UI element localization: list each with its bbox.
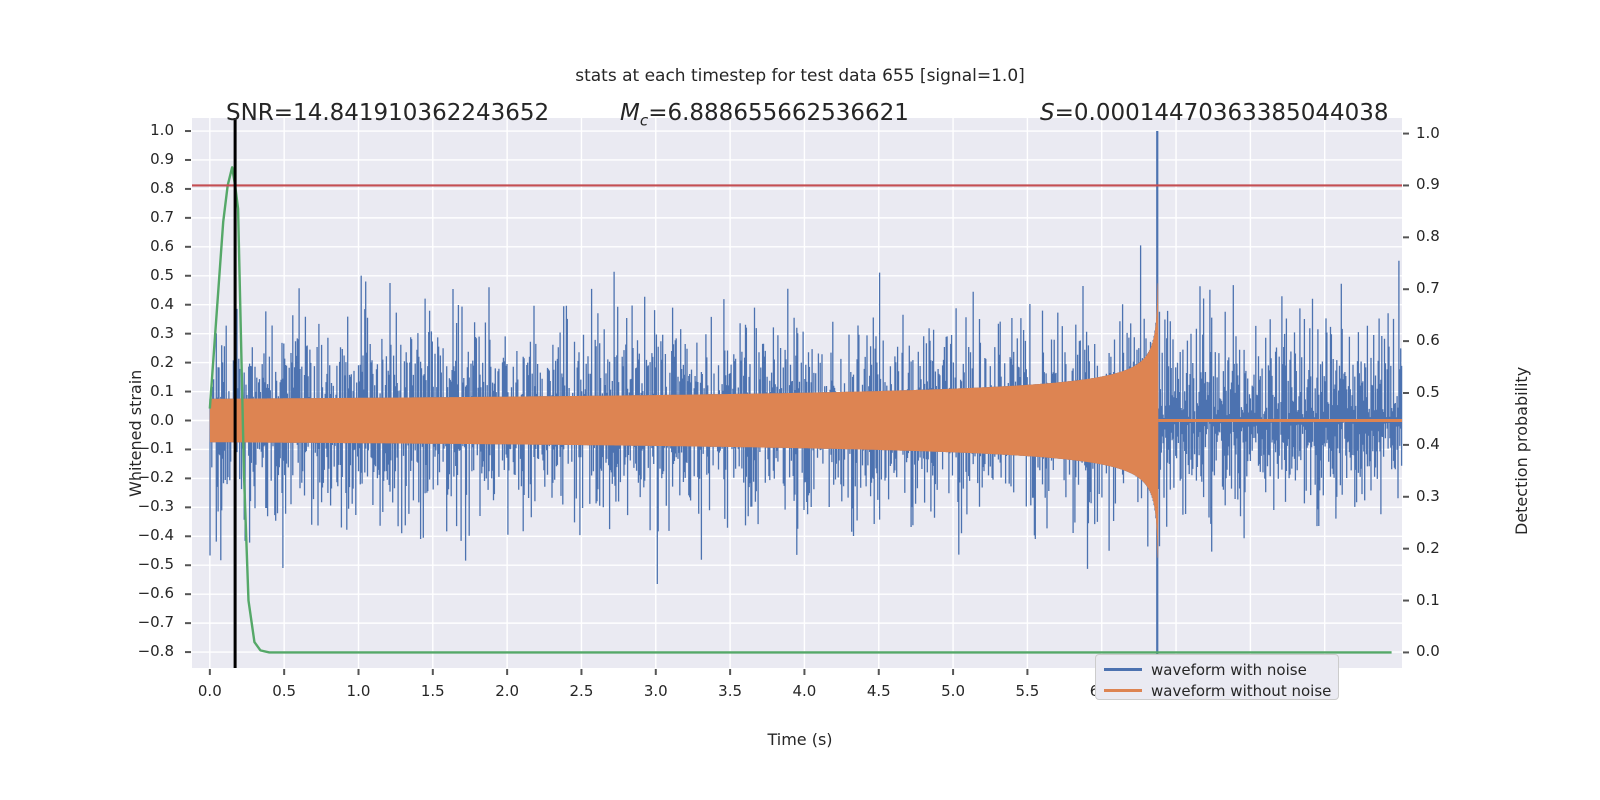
legend-label: waveform without noise xyxy=(1151,682,1331,700)
y-tick-label-left: −0.4 xyxy=(98,526,174,544)
legend: waveform with noisewaveform without nois… xyxy=(1095,654,1339,700)
y-tick-label-right: 0.0 xyxy=(1416,642,1476,660)
chart-title: stats at each timestep for test data 655… xyxy=(0,66,1600,86)
annotation-snr: SNR=14.841910362243652 xyxy=(226,100,549,126)
legend-label: waveform with noise xyxy=(1151,661,1307,679)
y-tick-label-left: 0.3 xyxy=(98,324,174,342)
x-tick-label: 0.0 xyxy=(180,682,240,700)
x-tick-label: 4.5 xyxy=(849,682,909,700)
x-tick-label: 2.0 xyxy=(477,682,537,700)
y-tick-label-left: −0.8 xyxy=(98,642,174,660)
x-tick-label: 3.0 xyxy=(626,682,686,700)
y-tick-label-left: 0.2 xyxy=(98,353,174,371)
annotation-mc-text: =6.888655662536621 xyxy=(648,100,909,126)
y-tick-label-left: −0.3 xyxy=(98,497,174,515)
y-tick-label-left: 0.9 xyxy=(98,150,174,168)
legend-swatch-icon xyxy=(1104,668,1142,671)
y-tick-label-left: −0.7 xyxy=(98,613,174,631)
legend-swatch-icon xyxy=(1104,689,1142,692)
y-tick-label-left: 0.7 xyxy=(98,208,174,226)
y-tick-label-right: 0.5 xyxy=(1416,383,1476,401)
y-tick-label-left: −0.2 xyxy=(98,468,174,486)
x-tick-label: 2.5 xyxy=(551,682,611,700)
y-tick-label-left: −0.5 xyxy=(98,555,174,573)
y-tick-label-right: 0.6 xyxy=(1416,331,1476,349)
y-tick-label-left: 0.4 xyxy=(98,295,174,313)
y-tick-label-right: 0.9 xyxy=(1416,175,1476,193)
x-tick-label: 3.5 xyxy=(700,682,760,700)
x-tick-label: 1.5 xyxy=(403,682,463,700)
y-tick-label-right: 0.1 xyxy=(1416,591,1476,609)
y-tick-label-left: 0.1 xyxy=(98,382,174,400)
y-tick-label-left: 0.6 xyxy=(98,237,174,255)
y-tick-label-left: −0.6 xyxy=(98,584,174,602)
annotation-snr-text: SNR=14.841910362243652 xyxy=(226,100,549,126)
y-tick-label-left: 0.8 xyxy=(98,179,174,197)
x-tick-label: 5.0 xyxy=(923,682,983,700)
legend-item: waveform without noise xyxy=(1104,679,1331,702)
x-tick-label: 0.5 xyxy=(254,682,314,700)
y-tick-label-right: 0.3 xyxy=(1416,487,1476,505)
x-tick-label: 1.0 xyxy=(328,682,388,700)
y-tick-label-right: 0.4 xyxy=(1416,435,1476,453)
y-tick-label-right: 0.7 xyxy=(1416,279,1476,297)
y-axis-label-right: Detection probability xyxy=(1512,367,1531,535)
x-tick-label: 5.5 xyxy=(997,682,1057,700)
y-tick-label-left: 0.5 xyxy=(98,266,174,284)
annotation-s-text: =0.00014470363385044038 xyxy=(1055,100,1389,126)
y-tick-label-left: 0.0 xyxy=(98,411,174,429)
y-tick-label-left: −0.1 xyxy=(98,439,174,457)
annotation-chirp-mass: Mc=6.888655662536621 xyxy=(620,100,909,130)
figure-canvas: stats at each timestep for test data 655… xyxy=(0,0,1600,800)
y-tick-label-left: 1.0 xyxy=(98,121,174,139)
y-tick-label-right: 0.2 xyxy=(1416,539,1476,557)
y-tick-label-right: 1.0 xyxy=(1416,124,1476,142)
annotation-significance: S=0.00014470363385044038 xyxy=(1040,100,1389,126)
legend-item: waveform with noise xyxy=(1104,658,1307,681)
x-axis-label: Time (s) xyxy=(0,730,1600,749)
y-tick-label-right: 0.8 xyxy=(1416,227,1476,245)
x-tick-label: 4.0 xyxy=(774,682,834,700)
